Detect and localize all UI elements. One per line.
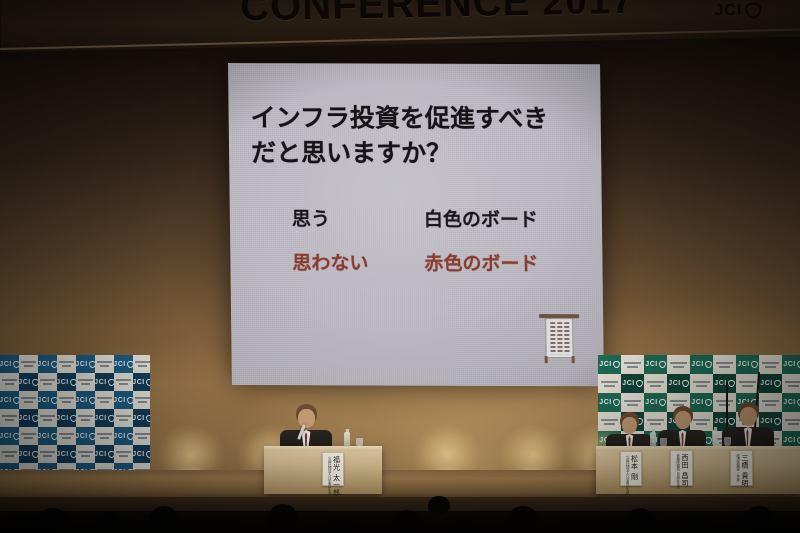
placard-name: 松本 剛 [630, 455, 637, 480]
banner-year-text: 2017 [542, 0, 635, 24]
backdrop-text-tile [736, 374, 759, 393]
jci-diamond-icon [146, 415, 150, 422]
backdrop-logo-tile: JCI [621, 374, 644, 393]
backdrop-sponsor-text [670, 400, 687, 406]
jci-diamond-icon [774, 380, 781, 387]
backdrop-jci-logo: JCI [94, 379, 114, 386]
backdrop-jci-logo: JCI [56, 415, 76, 422]
backdrop-logo-tile: JCI [114, 391, 133, 409]
jci-diamond-icon [613, 361, 620, 368]
backdrop-text-tile [782, 412, 800, 431]
placard-moderator: 福光 太一郎 公益社団法人日本青年会議所 [322, 452, 344, 486]
backdrop-jci-text: JCI [691, 399, 703, 406]
backdrop-logo-tile: JCI [57, 409, 76, 427]
audience-foreground-band [0, 511, 800, 533]
backdrop-jci-logo: JCI [113, 433, 133, 440]
backdrop-jci-logo: JCI [132, 379, 150, 386]
water-bottle [712, 430, 718, 445]
backdrop-sponsor-text [116, 415, 130, 421]
backdrop-jci-logo: JCI [75, 361, 95, 368]
backdrop-jci-text: JCI [56, 451, 68, 458]
backdrop-jci-logo: JCI [75, 397, 95, 404]
backdrop-jci-text: JCI [760, 380, 772, 387]
backdrop-logo-tile: JCI [57, 373, 76, 391]
backdrop-logo-tile: JCI [114, 427, 133, 445]
backdrop-text-tile [114, 373, 133, 391]
backdrop-jci-text: JCI [599, 361, 611, 368]
option-board-no: 赤色のボード [424, 249, 538, 276]
panelist-1-face [622, 417, 637, 434]
backdrop-text-tile [621, 393, 644, 412]
backdrop-sponsor-text [739, 381, 756, 387]
placard-name: 西田 昌司 [681, 454, 688, 487]
jci-diamond-icon [146, 379, 150, 386]
backdrop-jci-logo: JCI [37, 361, 57, 368]
backdrop-sponsor-text [2, 451, 16, 457]
placard-org: 公益社団法人日本青年会議所 [624, 455, 628, 499]
backdrop-jci-text: JCI [18, 451, 30, 458]
drinking-glass [660, 438, 667, 447]
backdrop-text-tile [114, 445, 133, 463]
conference-stage-photo: CONFERENCE2017 JCI インフラ投資を促進すべき だと思いますか？… [0, 0, 800, 533]
backdrop-logo-tile: JCI [133, 373, 150, 391]
backdrop-sponsor-text [40, 415, 54, 421]
backdrop-sponsor-text [2, 415, 16, 421]
jci-diamond-icon [705, 361, 712, 368]
backdrop-logo-tile: JCI [19, 445, 38, 463]
jci-diamond-icon [659, 361, 666, 368]
backdrop-jci-text: JCI [113, 361, 125, 368]
backdrop-sponsor-text [624, 400, 641, 406]
backdrop-logo-tile: JCI [95, 445, 114, 463]
backdrop-jci-text: JCI [783, 437, 795, 444]
backdrop-text-tile [690, 374, 713, 393]
backdrop-jci-text: JCI [645, 361, 657, 368]
backdrop-jci-logo: JCI [691, 361, 711, 368]
backdrop-jci-logo: JCI [18, 415, 38, 422]
backdrop-logo-tile: JCI [38, 427, 57, 445]
backdrop-jci-text: JCI [37, 397, 49, 404]
backdrop-text-tile [759, 355, 782, 374]
backdrop-jci-text: JCI [599, 399, 611, 406]
backdrop-jci-logo: JCI [94, 415, 114, 422]
noren-logo-icon [537, 310, 582, 364]
backdrop-text-tile [95, 391, 114, 409]
backdrop-text-tile [19, 427, 38, 445]
backdrop-text-tile [0, 409, 19, 427]
backdrop-text-tile [133, 427, 150, 445]
backdrop-jci-text: JCI [783, 399, 795, 406]
backdrop-jci-logo: JCI [599, 399, 619, 406]
backdrop-jci-logo: JCI [113, 361, 133, 368]
backdrop-sponsor-text [785, 381, 800, 387]
option-board-yes: 白色のボード [424, 205, 538, 232]
backdrop-sponsor-text [40, 379, 54, 385]
backdrop-jci-text: JCI [645, 399, 657, 406]
backdrop-logo-tile: JCI [0, 355, 19, 373]
option-answer-no: 思わない [292, 248, 424, 275]
jci-diamond-icon [636, 380, 643, 387]
backdrop-text-tile [782, 374, 800, 393]
backdrop-sponsor-text [762, 362, 779, 368]
backdrop-jci-logo: JCI [0, 397, 20, 404]
noren-legs [545, 356, 575, 363]
backdrop-text-tile [598, 374, 621, 393]
backdrop-sponsor-text [40, 451, 54, 457]
backdrop-sponsor-text [135, 361, 149, 367]
jci-diamond-icon [613, 399, 620, 406]
backdrop-logo-tile: JCI [133, 445, 150, 463]
backdrop-jci-logo: JCI [18, 451, 38, 458]
backdrop-text-tile [644, 374, 667, 393]
backdrop-text-tile [95, 355, 114, 373]
backdrop-logo-tile: JCI [598, 355, 621, 374]
backdrop-sponsor-text [59, 433, 73, 439]
noren-text-column [557, 322, 562, 354]
backdrop-text-tile [38, 445, 57, 463]
table-edge-highlight [264, 446, 382, 451]
backdrop-jci-text: JCI [113, 397, 125, 404]
backdrop-logo-tile: JCI [690, 355, 713, 374]
backdrop-jci-logo: JCI [37, 433, 57, 440]
noren-text-column [550, 322, 555, 354]
backdrop-text-tile [38, 373, 57, 391]
backdrop-jci-logo: JCI [691, 399, 711, 406]
backdrop-jci-logo: JCI [599, 361, 619, 368]
backdrop-jci-text: JCI [56, 415, 68, 422]
backdrop-jci-text: JCI [94, 451, 106, 458]
backdrop-sponsor-text [116, 451, 130, 457]
backdrop-jci-logo: JCI [737, 361, 757, 368]
backdrop-logo-tile: JCI [782, 355, 800, 374]
slide-question-line2: だと思いますか？ [251, 136, 581, 172]
backdrop-text-tile [57, 355, 76, 373]
backdrop-sponsor-text [647, 381, 664, 387]
backdrop-logo-tile: JCI [713, 374, 736, 393]
backdrop-jci-text: JCI [0, 433, 12, 440]
backdrop-jci-text: JCI [737, 361, 749, 368]
slide-option-row: 思わない 赤色のボード [292, 248, 582, 276]
backdrop-logo-tile: JCI [76, 427, 95, 445]
backdrop-logo-tile: JCI [38, 355, 57, 373]
backdrop-sponsor-text [97, 361, 111, 367]
moderator-face [298, 409, 315, 428]
backdrop-logo-tile: JCI [38, 391, 57, 409]
placard-name: 三橋 貴明 [741, 454, 748, 487]
backdrop-text-tile [76, 445, 95, 463]
backdrop-jci-logo: JCI [0, 361, 20, 368]
backdrop-jci-logo: JCI [783, 437, 800, 444]
backdrop-jci-text: JCI [0, 397, 12, 404]
backdrop-jci-text: JCI [132, 451, 144, 458]
backdrop-jci-logo: JCI [622, 380, 642, 387]
backdrop-logo-tile: JCI [759, 374, 782, 393]
backdrop-text-tile [713, 355, 736, 374]
backdrop-sponsor-text [59, 361, 73, 367]
backdrop-jci-text: JCI [622, 380, 634, 387]
backdrop-sponsor-text [716, 362, 733, 368]
backdrop-jci-text: JCI [0, 361, 12, 368]
backdrop-jci-logo: JCI [783, 361, 800, 368]
backdrop-logo-tile: JCI [644, 355, 667, 374]
placard-org: 参議院議員 自由民主党 [675, 454, 679, 489]
slide-question: インフラ投資を促進すべき だと思いますか？ [250, 101, 581, 171]
backdrop-jci-text: JCI [691, 361, 703, 368]
backdrop-jci-logo: JCI [113, 397, 133, 404]
backdrop-jci-text: JCI [37, 361, 49, 368]
backdrop-jci-text: JCI [132, 379, 144, 386]
backdrop-sponsor-text [21, 433, 35, 439]
panelist-3-face [740, 407, 757, 426]
banner-jci-text: JCI [714, 2, 742, 21]
backdrop-sponsor-text [97, 397, 111, 403]
drinking-glass [724, 437, 731, 446]
backdrop-jci-text: JCI [668, 380, 680, 387]
backdrop-logo-tile: JCI [667, 374, 690, 393]
backdrop-text-tile [621, 355, 644, 374]
backdrop-text-tile [38, 409, 57, 427]
backdrop-logo-tile: JCI [133, 409, 150, 427]
backdrop-jci-logo: JCI [645, 399, 665, 406]
backdrop-jci-text: JCI [132, 415, 144, 422]
backdrop-jci-logo: JCI [783, 399, 800, 406]
backdrop-logo-tile: JCI [782, 393, 800, 412]
backdrop-text-tile [133, 355, 150, 373]
backdrop-sponsor-text [2, 379, 16, 385]
backdrop-sponsor-text [78, 451, 92, 457]
backdrop-jci-logo: JCI [760, 380, 780, 387]
option-answer-yes: 思う [292, 204, 424, 231]
backdrop-sponsor-text [78, 415, 92, 421]
backdrop-text-tile [0, 373, 19, 391]
jci-diamond-icon [659, 399, 666, 406]
backdrop-jci-logo: JCI [0, 433, 20, 440]
jci-diamond-icon [146, 451, 150, 458]
jci-diamond-icon [745, 2, 761, 18]
backdrop-text-tile [19, 391, 38, 409]
water-bottle [344, 432, 350, 447]
backdrop-text-tile [76, 409, 95, 427]
backdrop-sponsor-text [97, 433, 111, 439]
backdrop-jci-logo: JCI [56, 379, 76, 386]
slide-question-line1: インフラ投資を促進すべき [250, 103, 548, 133]
backdrop-jci-logo: JCI [56, 451, 76, 458]
placard-panelist-3: 三橋 貴明 経済評論家・作家 [730, 450, 753, 486]
backdrop-jci-logo: JCI [645, 361, 665, 368]
backdrop-sponsor-text [135, 433, 149, 439]
backdrop-jci-text: JCI [56, 379, 68, 386]
backdrop-sponsor-text [624, 362, 641, 368]
panelist-2-face [675, 411, 691, 429]
banner-jci-logo: JCI [714, 1, 761, 20]
backdrop-sponsor-text [693, 381, 710, 387]
backdrop-jci-text: JCI [75, 361, 87, 368]
backdrop-logo-tile: JCI [95, 409, 114, 427]
backdrop-text-tile [19, 355, 38, 373]
placard-name: 福光 太一郎 [332, 456, 339, 496]
backdrop-text-tile [133, 391, 150, 409]
backdrop-text-tile [57, 391, 76, 409]
backdrop-sponsor-text [21, 361, 35, 367]
backdrop-jci-logo: JCI [37, 397, 57, 404]
backdrop-jci-logo: JCI [94, 451, 114, 458]
backdrop-text-tile [95, 427, 114, 445]
backdrop-logo-tile: JCI [598, 393, 621, 412]
backdrop-sponsor-text [21, 397, 35, 403]
jci-diamond-icon [682, 380, 689, 387]
placard-panelist-2: 西田 昌司 参議院議員 自由民主党 [670, 450, 693, 486]
backdrop-sponsor-text [116, 379, 130, 385]
backdrop-logo-tile: JCI [95, 373, 114, 391]
placard-panelist-1: 松本 剛 公益社団法人日本青年会議所 [620, 451, 642, 486]
backdrop-sponsor-text [135, 397, 149, 403]
backdrop-jci-text: JCI [75, 397, 87, 404]
backdrop-jci-logo: JCI [132, 415, 150, 422]
drinking-glass [356, 438, 363, 447]
slide-options: 思う 白色のボード 思わない 赤色のボード [252, 204, 583, 276]
slide-option-row: 思う 白色のボード [292, 204, 582, 232]
banner-title-text: CONFERENCE [240, 0, 531, 29]
backdrop-logo-tile: JCI [0, 391, 19, 409]
backdrop-logo-tile: JCI [19, 373, 38, 391]
water-bottle [650, 432, 656, 447]
backdrop-jci-text: JCI [18, 379, 30, 386]
backdrop-sponsor-text [670, 362, 687, 368]
backdrop-jci-text: JCI [783, 361, 795, 368]
jci-diamond-icon [728, 380, 735, 387]
backdrop-jci-text: JCI [714, 380, 726, 387]
backdrop-jci-logo: JCI [668, 380, 688, 387]
backdrop-logo-tile: JCI [0, 427, 19, 445]
backdrop-jci-logo: JCI [75, 433, 95, 440]
placard-org: 公益社団法人日本青年会議所 [326, 456, 330, 500]
backdrop-logo-tile: JCI [76, 391, 95, 409]
backdrop-logo-tile: JCI [114, 355, 133, 373]
backdrop-text-tile [667, 355, 690, 374]
backdrop-logo-tile: JCI [19, 409, 38, 427]
backdrop-jci-text: JCI [75, 433, 87, 440]
noren-text-column [564, 322, 569, 354]
backdrop-text-tile [76, 373, 95, 391]
jci-diamond-icon [705, 399, 712, 406]
backdrop-jci-logo: JCI [132, 451, 150, 458]
jci-diamond-icon [751, 361, 758, 368]
backdrop-jci-text: JCI [94, 415, 106, 422]
backdrop-sponsor-text [78, 379, 92, 385]
backdrop-sponsor-text [59, 397, 73, 403]
backdrop-sponsor-text [785, 419, 800, 425]
backdrop-jci-logo: JCI [714, 380, 734, 387]
backdrop-text-tile [57, 427, 76, 445]
projection-screen: インフラ投資を促進すべき だと思いますか？ 思う 白色のボード 思わない 赤色の… [228, 63, 604, 386]
backdrop-logo-tile: JCI [736, 355, 759, 374]
backdrop-sponsor-text [601, 381, 618, 387]
backdrop-logo-tile: JCI [57, 445, 76, 463]
noren-body [545, 318, 573, 358]
backdrop-jci-text: JCI [113, 433, 125, 440]
backdrop-jci-text: JCI [94, 379, 106, 386]
backdrop-text-tile [114, 409, 133, 427]
backdrop-text-tile [0, 445, 19, 463]
backdrop-logo-tile: JCI [76, 355, 95, 373]
placard-org: 経済評論家・作家 [735, 454, 739, 481]
backdrop-jci-logo: JCI [18, 379, 38, 386]
banner-title: CONFERENCE2017 [240, 0, 635, 30]
backdrop-jci-text: JCI [18, 415, 30, 422]
backdrop-jci-text: JCI [37, 433, 49, 440]
